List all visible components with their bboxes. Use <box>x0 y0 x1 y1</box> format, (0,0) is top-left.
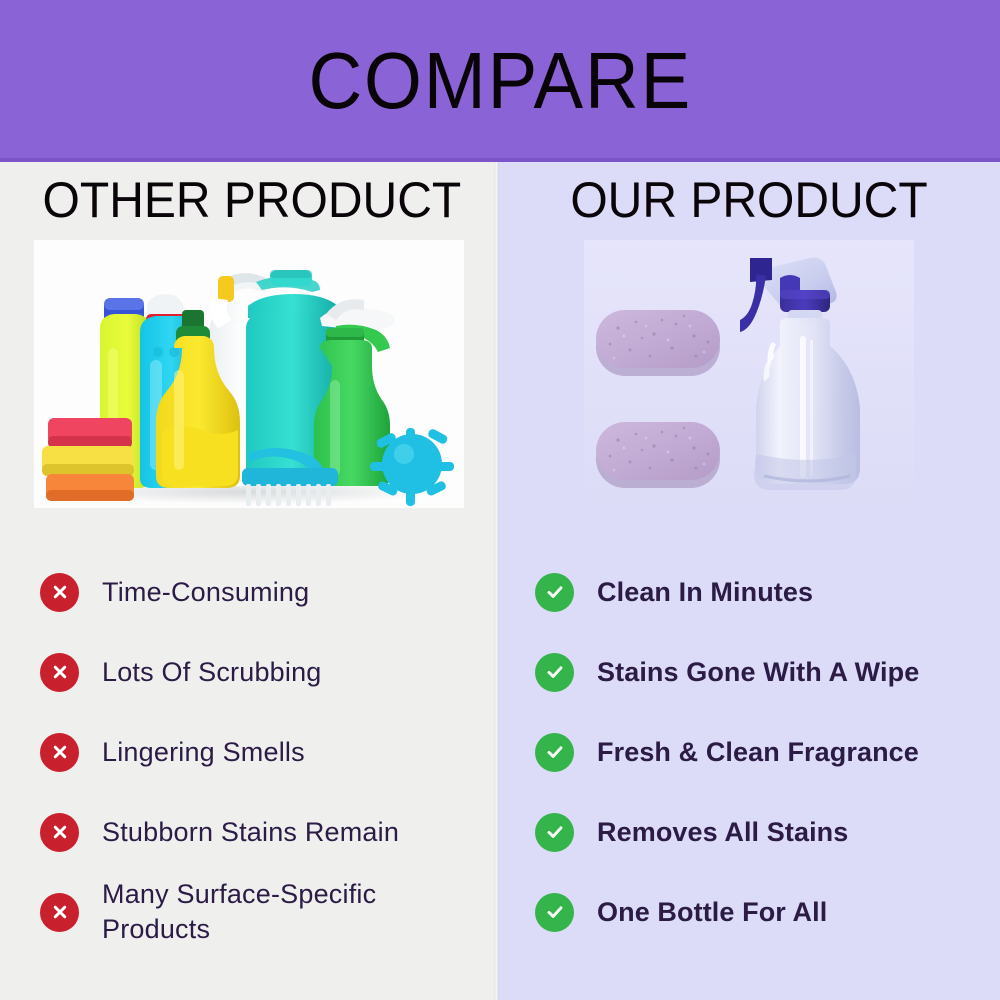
cleaning-tablet-lower <box>596 422 720 488</box>
check-mark-icon <box>535 813 574 852</box>
list-item-label: Fresh & Clean Fragrance <box>574 735 919 770</box>
list-item: Removes All Stains <box>498 792 1000 872</box>
cleaning-tablet-upper <box>596 310 720 376</box>
our-product-feature-list: Clean In Minutes Stains Gone With A Wipe… <box>498 552 1000 952</box>
x-mark-icon <box>40 573 79 612</box>
sponge-stack <box>42 418 134 501</box>
compare-infographic: COMPARE OTHER PRODUCT <box>0 0 1000 1000</box>
list-item-label: Time-Consuming <box>79 575 309 610</box>
other-product-feature-list: Time-Consuming Lots Of Scrubbing Lingeri… <box>0 552 498 952</box>
list-item: Clean In Minutes <box>498 552 1000 632</box>
page-title: COMPARE <box>308 41 692 121</box>
list-item: Lingering Smells <box>0 712 498 792</box>
list-item: Fresh & Clean Fragrance <box>498 712 1000 792</box>
header-banner: COMPARE <box>0 0 1000 158</box>
check-mark-icon <box>535 893 574 932</box>
column-title-other: OTHER PRODUCT <box>10 162 488 226</box>
tablets-and-spray-bottle-illustration <box>584 240 914 508</box>
list-item-label: Many Surface-Specific Products <box>79 877 474 947</box>
list-item: Stubborn Stains Remain <box>0 792 498 872</box>
x-mark-icon <box>40 893 79 932</box>
column-other-product: OTHER PRODUCT <box>0 162 498 1000</box>
column-our-product: OUR PRODUCT <box>498 162 1000 1000</box>
x-mark-icon <box>40 653 79 692</box>
list-item-label: Clean In Minutes <box>574 575 813 610</box>
check-mark-icon <box>535 573 574 612</box>
list-item: Lots Of Scrubbing <box>0 632 498 712</box>
list-item: Many Surface-Specific Products <box>0 872 498 952</box>
list-item-label: Stubborn Stains Remain <box>79 815 399 850</box>
list-item-label: Lots Of Scrubbing <box>79 655 322 690</box>
list-item: Stains Gone With A Wipe <box>498 632 1000 712</box>
our-product-image <box>498 240 1000 508</box>
comparison-columns: OTHER PRODUCT <box>0 162 1000 1000</box>
list-item-label: Lingering Smells <box>79 735 305 770</box>
check-mark-icon <box>535 653 574 692</box>
list-item: Time-Consuming <box>0 552 498 632</box>
list-item-label: Removes All Stains <box>574 815 848 850</box>
other-product-image <box>0 240 498 508</box>
cleaning-supplies-illustration <box>34 240 464 508</box>
check-mark-icon <box>535 733 574 772</box>
column-title-our: OUR PRODUCT <box>508 162 990 226</box>
x-mark-icon <box>40 733 79 772</box>
list-item-label: Stains Gone With A Wipe <box>574 655 919 690</box>
list-item-label: One Bottle For All <box>574 895 827 930</box>
column-divider <box>494 162 499 1000</box>
list-item: One Bottle For All <box>498 872 1000 952</box>
x-mark-icon <box>40 813 79 852</box>
